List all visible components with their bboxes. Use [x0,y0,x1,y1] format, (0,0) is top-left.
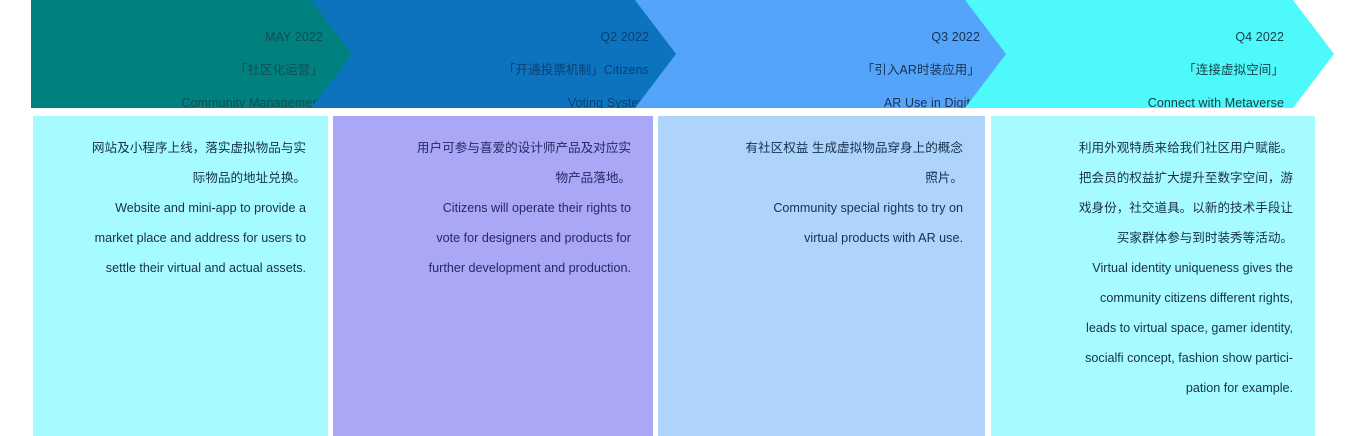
stage-3-body-en: Community special rights to try on virtu… [680,194,963,254]
stage-1-title-en: Community Management [181,95,323,112]
stage-4-body-cn: 利用外观特质来给我们社区用户赋能。 把会员的权益扩大提升至数字空间，游 戏身份，… [1013,134,1293,254]
stage-4-title-cn: 「连接虚拟空间」 [1148,62,1284,79]
stage-4-description-panel[interactable]: 利用外观特质来给我们社区用户赋能。 把会员的权益扩大提升至数字空间，游 戏身份，… [991,116,1315,436]
stage-3-period: Q3 2022 [862,29,980,46]
stage-2-title-en: Voting System [503,95,649,112]
stage-1-body-cn: 网站及小程序上线，落实虚拟物品与实 际物品的地址兑换。 [55,134,306,194]
stage-2-body-cn: 用户可参与喜爱的设计师产品及对应实 物产品落地。 [355,134,631,194]
roadmap-diagram: MAY 2022 「社区化运营」 Community Management Q2… [0,0,1361,436]
stage-3-description-panel[interactable]: 有社区权益 生成虚拟物品穿身上的概念 照片。 Community special… [658,116,985,436]
stage-1-body-en: Website and mini-app to provide a market… [55,194,306,284]
stage-2-period: Q2 2022 [503,29,649,46]
stage-4-body-en: Virtual identity uniqueness gives the co… [1013,254,1293,404]
timeline-stage-header-3[interactable]: Q3 2022 「引入AR时装应用」 AR Use in Digital Fas… [635,0,1029,108]
stage-3-title-cn: 「引入AR时装应用」 [862,62,980,79]
stage-2-description-panel[interactable]: 用户可参与喜爱的设计师产品及对应实 物产品落地。 Citizens will o… [333,116,653,436]
stage-4-header-label: Q4 2022 「连接虚拟空间」 Connect with Metaverse [1148,0,1334,128]
timeline-stage-header-4[interactable]: Q4 2022 「连接虚拟空间」 Connect with Metaverse [965,0,1334,108]
timeline-description-panels: 网站及小程序上线，落实虚拟物品与实 际物品的地址兑换。 Website and … [0,116,1361,436]
stage-1-period: MAY 2022 [181,29,323,46]
stage-1-description-panel[interactable]: 网站及小程序上线，落实虚拟物品与实 际物品的地址兑换。 Website and … [33,116,328,436]
stage-4-title-en: Connect with Metaverse [1148,95,1284,112]
timeline-stage-header-2[interactable]: Q2 2022 「开通投票机制」Citizens Voting System [311,0,699,108]
stage-3-body-cn: 有社区权益 生成虚拟物品穿身上的概念 照片。 [680,134,963,194]
stage-1-title-cn: 「社区化运营」 [181,62,323,79]
stage-4-period: Q4 2022 [1148,29,1284,46]
stage-2-title-cn: 「开通投票机制」Citizens [503,62,649,79]
stage-2-body-en: Citizens will operate their rights to vo… [355,194,631,284]
timeline-chevron-band: MAY 2022 「社区化运营」 Community Management Q2… [0,0,1361,110]
